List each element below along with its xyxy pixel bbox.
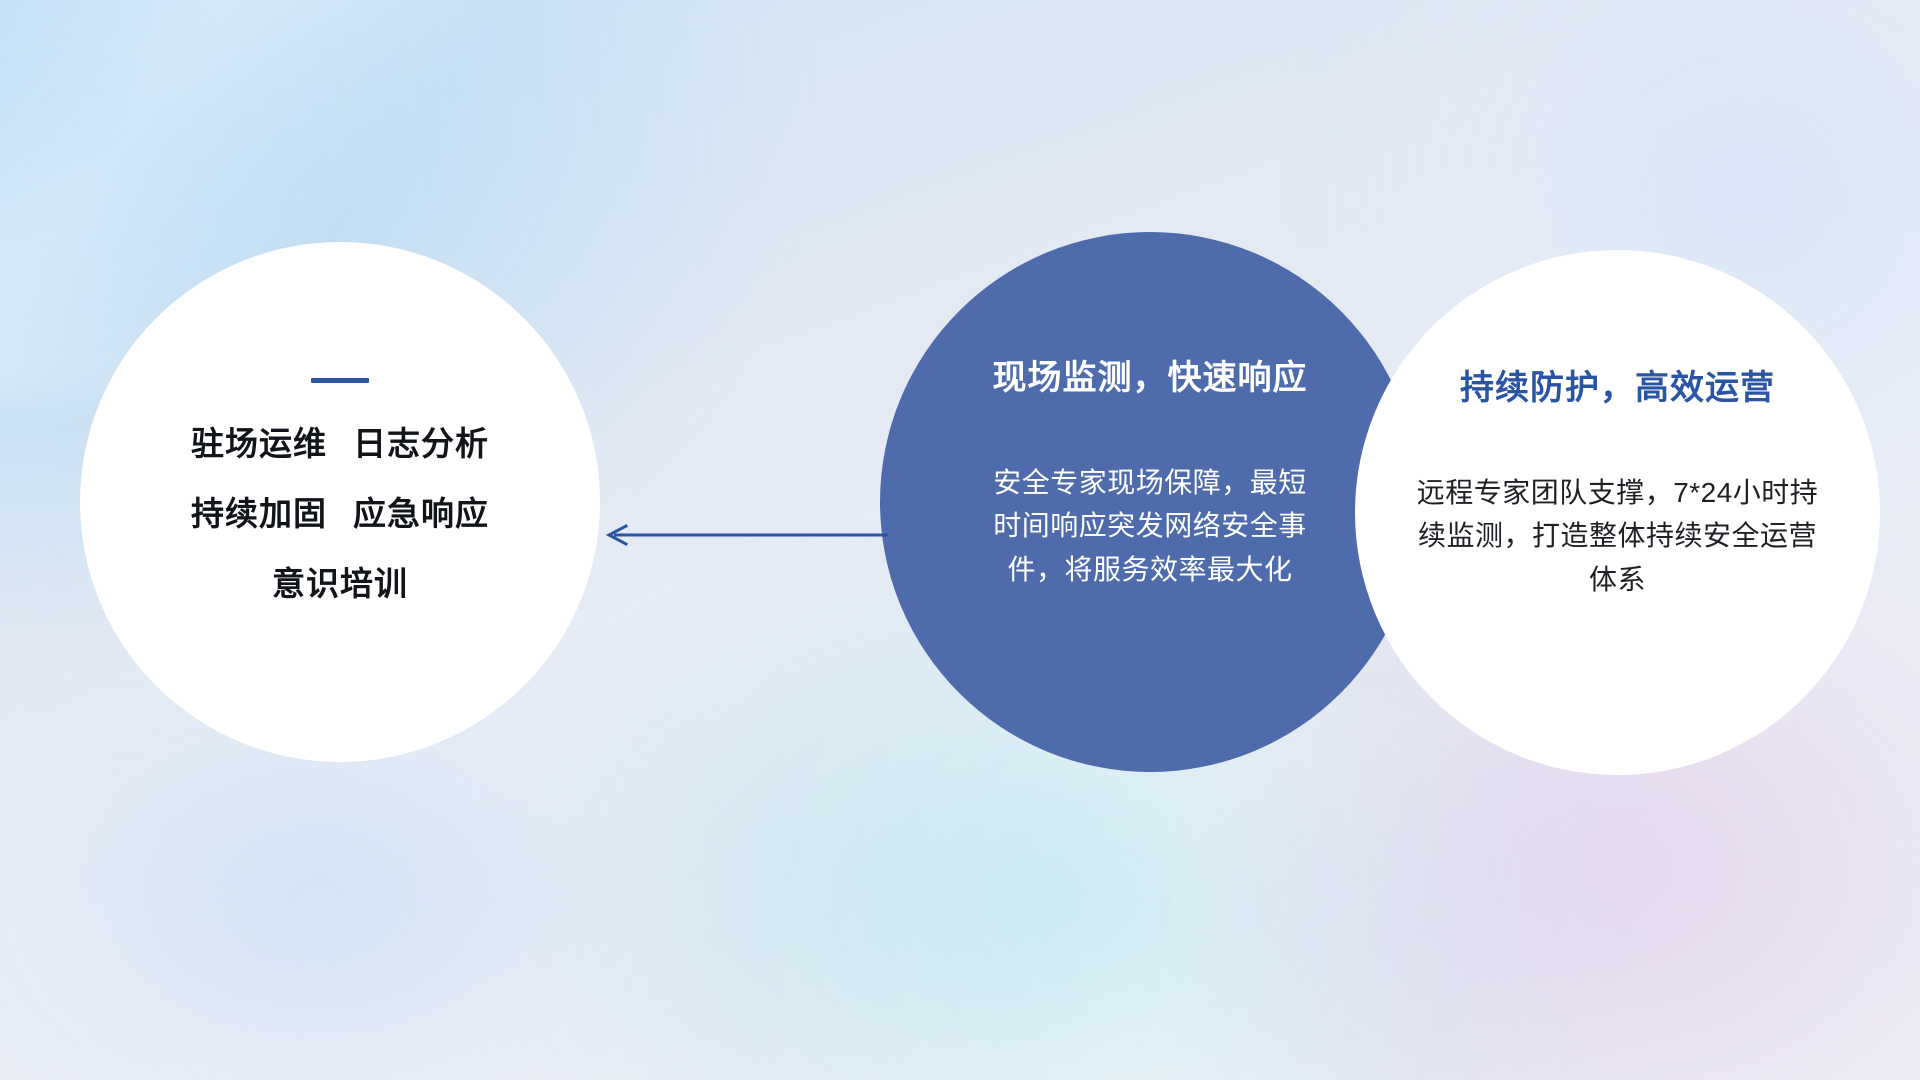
continuous-protection-circle[interactable] xyxy=(1355,250,1880,775)
capability-label-zhuchang: 驻场运维 xyxy=(191,425,327,462)
capability-label-rizhi: 日志分析 xyxy=(353,425,489,462)
accent-dash-icon xyxy=(311,378,369,383)
capability-line-2: 持续加固应急响应 xyxy=(191,497,489,530)
capability-label-yishipeixun: 意识培训 xyxy=(272,565,408,602)
capability-label-chixujiagu: 持续加固 xyxy=(191,495,327,532)
capability-line-3: 意识培训 xyxy=(272,567,408,600)
onsite-monitoring-circle[interactable] xyxy=(880,232,1420,772)
capability-label-yingji: 应急响应 xyxy=(353,495,489,532)
capability-line-1: 驻场运维日志分析 xyxy=(191,427,489,460)
slide-canvas: 驻场运维日志分析 持续加固应急响应 意识培训 现场监测，快速响应 安全专家现场保… xyxy=(0,0,1920,1080)
leftward-flow-arrow xyxy=(600,520,890,550)
driver-capability-circle[interactable]: 驻场运维日志分析 持续加固应急响应 意识培训 xyxy=(80,242,600,762)
